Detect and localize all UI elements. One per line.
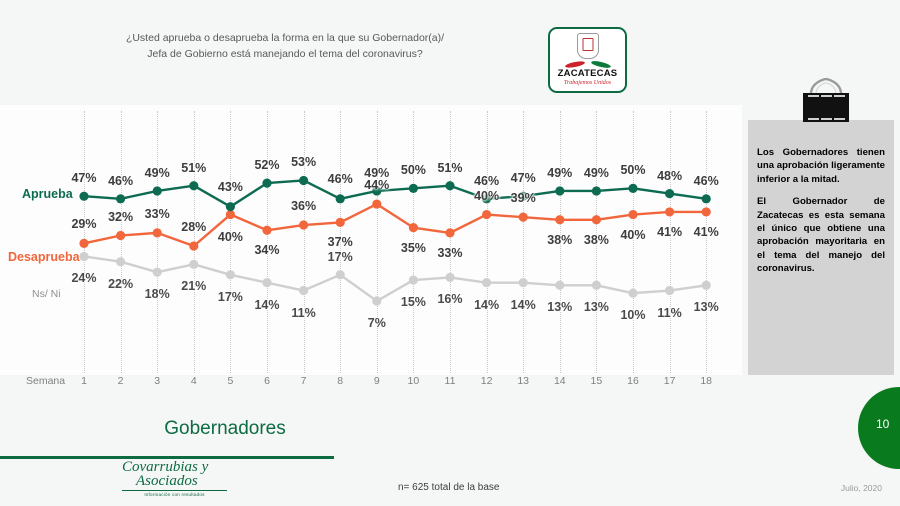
data-point <box>262 226 271 235</box>
note-paragraph-2: El Gobernador de Zacatecas es esta seman… <box>757 195 885 275</box>
data-point <box>409 223 418 232</box>
data-point <box>299 176 308 185</box>
series-label-aprueba: Aprueba <box>22 187 73 201</box>
x-tick-13: 13 <box>517 375 529 387</box>
data-point <box>116 231 125 240</box>
chiles-icon <box>565 60 611 68</box>
data-label: 17% <box>328 250 353 264</box>
data-label: 53% <box>291 155 316 169</box>
data-point <box>555 281 564 290</box>
data-label: 49% <box>584 166 609 180</box>
data-point <box>336 218 345 227</box>
data-label: 14% <box>474 298 499 312</box>
data-point <box>555 186 564 195</box>
data-point <box>262 179 271 188</box>
data-label: 49% <box>145 166 170 180</box>
x-tick-18: 18 <box>700 375 712 387</box>
data-label: 50% <box>620 163 645 177</box>
data-point <box>445 228 454 237</box>
data-point <box>592 186 601 195</box>
data-label: 41% <box>657 225 682 239</box>
series-line-desaprueba <box>84 204 706 246</box>
x-tick-2: 2 <box>118 375 124 387</box>
data-label: 43% <box>218 180 243 194</box>
covarrubias-logo: Covarrubias y Asociados Información con … <box>122 460 227 498</box>
data-label: 34% <box>254 243 279 257</box>
data-label: 46% <box>474 174 499 188</box>
series-line-aprueba <box>84 180 706 206</box>
data-label: 7% <box>368 316 386 330</box>
data-point <box>702 207 711 216</box>
x-tick-12: 12 <box>481 375 493 387</box>
x-tick-3: 3 <box>154 375 160 387</box>
data-label: 40% <box>218 230 243 244</box>
x-tick-4: 4 <box>191 375 197 387</box>
note-paragraph-1: Los Gobernadores tienen una aprobación l… <box>757 146 885 186</box>
data-point <box>519 278 528 287</box>
data-label: 51% <box>181 161 206 175</box>
question-line-1: ¿Usted aprueba o desaprueba la forma en … <box>95 30 475 46</box>
question-line-2: Jefa de Gobierno está manejando el tema … <box>95 46 475 62</box>
x-tick-8: 8 <box>337 375 343 387</box>
data-label: 16% <box>437 292 462 306</box>
x-tick-14: 14 <box>554 375 566 387</box>
data-point <box>592 215 601 224</box>
data-label: 13% <box>547 300 572 314</box>
data-point <box>702 281 711 290</box>
data-point <box>445 273 454 282</box>
data-point <box>628 210 637 219</box>
chart-question: ¿Usted aprueba o desaprueba la forma en … <box>95 30 475 62</box>
x-tick-9: 9 <box>374 375 380 387</box>
data-label: 38% <box>547 233 572 247</box>
data-label: 17% <box>218 290 243 304</box>
x-axis-title: Semana <box>26 375 65 387</box>
data-label: 29% <box>71 217 96 231</box>
data-point <box>372 199 381 208</box>
x-tick-15: 15 <box>591 375 603 387</box>
data-label: 15% <box>401 295 426 309</box>
data-point <box>519 213 528 222</box>
data-point <box>336 270 345 279</box>
data-label: 13% <box>584 300 609 314</box>
insight-note: Los Gobernadores tienen una aprobación l… <box>748 120 894 375</box>
data-label: 47% <box>71 171 96 185</box>
data-point <box>702 194 711 203</box>
data-point <box>116 257 125 266</box>
data-point <box>79 192 88 201</box>
data-point <box>79 239 88 248</box>
data-label: 33% <box>145 207 170 221</box>
data-point <box>592 281 601 290</box>
data-point <box>153 268 162 277</box>
data-point <box>189 260 198 269</box>
data-label: 41% <box>694 225 719 239</box>
report-date: Julio, 2020 <box>841 483 882 493</box>
data-label: 48% <box>657 169 682 183</box>
x-tick-7: 7 <box>301 375 307 387</box>
data-label: 36% <box>291 199 316 213</box>
data-point <box>226 202 235 211</box>
data-point <box>153 186 162 195</box>
data-label: 49% <box>547 166 572 180</box>
series-label-ns-ni: Ns/ Ni <box>32 288 61 300</box>
data-label: 14% <box>254 298 279 312</box>
agency-name-line-1: Covarrubias y <box>122 460 227 474</box>
agency-tagline: Información con resultados <box>122 492 227 497</box>
data-point <box>189 181 198 190</box>
data-label: 51% <box>437 161 462 175</box>
binder-clip-icon <box>795 78 857 124</box>
data-label: 40% <box>620 228 645 242</box>
slide: ¿Usted aprueba o desaprueba la forma en … <box>0 0 900 506</box>
data-label: 40% <box>474 189 499 203</box>
line-chart: 47%46%49%51%43%52%53%46%49%50%51%46%47%4… <box>0 105 742 375</box>
data-point <box>262 278 271 287</box>
data-point <box>372 296 381 305</box>
data-label: 13% <box>694 300 719 314</box>
x-tick-6: 6 <box>264 375 270 387</box>
data-point <box>482 210 491 219</box>
x-tick-17: 17 <box>664 375 676 387</box>
data-label: 44% <box>364 178 389 192</box>
series-line-ns-ni <box>84 256 706 301</box>
data-label: 14% <box>511 298 536 312</box>
data-label: 39% <box>511 191 536 205</box>
data-label: 50% <box>401 163 426 177</box>
data-point <box>226 270 235 279</box>
shield-icon <box>577 33 599 59</box>
page-number: 10 <box>876 417 889 431</box>
data-label: 33% <box>437 246 462 260</box>
x-tick-1: 1 <box>81 375 87 387</box>
zacatecas-logo: ZACATECAS Trabajemos Unidos <box>548 27 627 93</box>
data-point <box>445 181 454 190</box>
logo-wordmark: ZACATECAS <box>558 69 618 79</box>
data-label: 52% <box>254 158 279 172</box>
chart-plot-area: 47%46%49%51%43%52%53%46%49%50%51%46%47%4… <box>0 105 742 375</box>
data-point <box>628 289 637 298</box>
data-point <box>409 275 418 284</box>
logo-tagline: Trabajemos Unidos <box>564 79 611 87</box>
data-label: 28% <box>181 220 206 234</box>
data-label: 21% <box>181 279 206 293</box>
data-point <box>555 215 564 224</box>
data-label: 32% <box>108 210 133 224</box>
x-axis: Semana 123456789101112131415161718 <box>0 375 742 395</box>
data-point <box>336 194 345 203</box>
footer-title: Gobernadores <box>0 418 450 440</box>
data-label: 11% <box>291 306 315 320</box>
data-point <box>665 189 674 198</box>
data-point <box>665 286 674 295</box>
data-label: 22% <box>108 277 133 291</box>
data-point <box>79 252 88 261</box>
data-point <box>153 228 162 237</box>
data-label: 46% <box>694 174 719 188</box>
data-point <box>665 207 674 216</box>
data-point <box>226 210 235 219</box>
x-tick-10: 10 <box>408 375 420 387</box>
base-note: n= 625 total de la base <box>398 482 499 493</box>
x-tick-16: 16 <box>627 375 639 387</box>
data-label: 11% <box>657 306 681 320</box>
data-label: 46% <box>108 174 133 188</box>
data-point <box>189 241 198 250</box>
data-point <box>299 286 308 295</box>
data-label: 35% <box>401 241 426 255</box>
data-label: 47% <box>511 171 536 185</box>
agency-divider <box>122 490 227 491</box>
data-point <box>482 278 491 287</box>
data-point <box>299 220 308 229</box>
series-label-desaprueba: Desaprueba <box>8 250 80 264</box>
agency-name-line-2: Asociados <box>122 474 227 488</box>
x-tick-11: 11 <box>445 375 456 387</box>
data-label: 10% <box>620 308 645 322</box>
x-tick-5: 5 <box>227 375 233 387</box>
data-point <box>116 194 125 203</box>
data-label: 46% <box>328 172 353 186</box>
data-label: 38% <box>584 233 609 247</box>
data-point <box>409 184 418 193</box>
data-label: 18% <box>145 287 170 301</box>
data-label: 24% <box>71 271 96 285</box>
data-label: 37% <box>328 235 353 249</box>
data-point <box>628 184 637 193</box>
